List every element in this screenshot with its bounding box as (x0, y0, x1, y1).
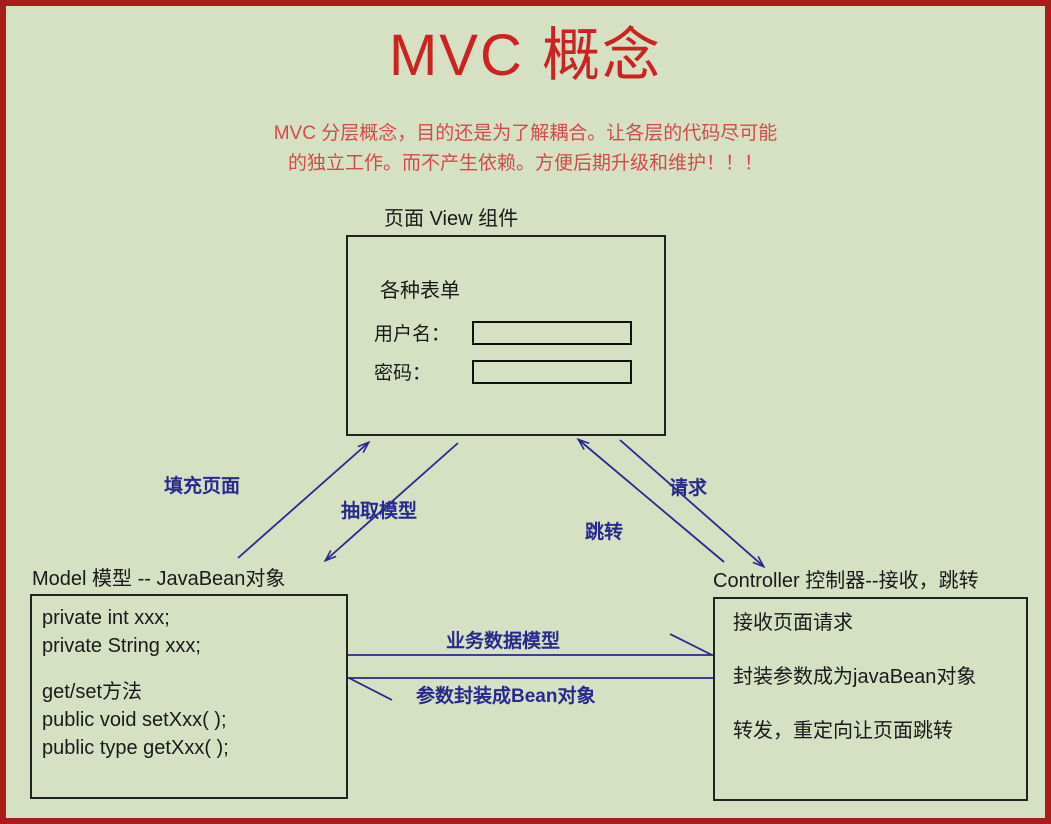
model-box-caption: Model 模型 -- JavaBean对象 (32, 562, 285, 591)
arrow-request (620, 440, 763, 566)
username-input[interactable] (472, 321, 632, 345)
view-forms-label: 各种表单 (380, 274, 460, 303)
view-box-caption: 页面 View 组件 (384, 202, 518, 231)
arrow-label-request: 请求 (669, 473, 707, 500)
password-input[interactable] (472, 360, 632, 384)
arrow-business-model-head (670, 634, 712, 655)
model-line-4: public void setXxx( ); (42, 706, 229, 734)
controller-spacer-1 (733, 636, 976, 664)
subtitle-line-2: 的独立工作。而不产生依赖。方便后期升级和维护！！！ (6, 149, 1045, 179)
page-title: MVC 概念 (6, 24, 1045, 88)
password-label: 密码： (374, 358, 472, 385)
controller-line-1: 接收页面请求 (733, 610, 976, 636)
controller-line-2: 封装参数成为javaBean对象 (733, 664, 976, 690)
username-field-row: 用户名： (374, 319, 632, 346)
arrow-label-fill-page: 填充页面 (164, 471, 240, 498)
model-line-2: private String xxx; (42, 632, 229, 660)
diagram-canvas: MVC 概念 MVC 分层概念，目的还是为了解耦合。让各层的代码尽可能 的独立工… (6, 6, 1045, 818)
arrow-label-business-model: 业务数据模型 (446, 626, 560, 653)
subtitle-line-1: MVC 分层概念，目的还是为了解耦合。让各层的代码尽可能 (6, 119, 1045, 149)
diagram-page: MVC 概念 MVC 分层概念，目的还是为了解耦合。让各层的代码尽可能 的独立工… (0, 0, 1051, 824)
username-label: 用户名： (374, 319, 472, 346)
arrow-label-extract-model: 抽取模型 (341, 496, 417, 523)
arrow-label-param-to-bean: 参数封装成Bean对象 (416, 681, 595, 708)
subtitle-block: MVC 分层概念，目的还是为了解耦合。让各层的代码尽可能 的独立工作。而不产生依… (6, 119, 1045, 179)
controller-line-3: 转发，重定向让页面跳转 (733, 718, 976, 744)
controller-spacer-2 (733, 690, 976, 718)
model-line-1: private int xxx; (42, 604, 229, 632)
arrow-label-forward: 跳转 (585, 517, 623, 544)
arrow-param-to-bean-head (349, 678, 392, 700)
model-line-5: public type getXxx( ); (42, 734, 229, 762)
model-spacer (42, 660, 229, 678)
controller-box-caption: Controller 控制器--接收，跳转 (713, 564, 979, 593)
controller-box-content: 接收页面请求 封装参数成为javaBean对象 转发，重定向让页面跳转 (733, 610, 976, 744)
model-box-content: private int xxx; private String xxx; get… (42, 604, 229, 762)
password-field-row: 密码： (374, 358, 632, 385)
model-line-3: get/set方法 (42, 678, 229, 706)
